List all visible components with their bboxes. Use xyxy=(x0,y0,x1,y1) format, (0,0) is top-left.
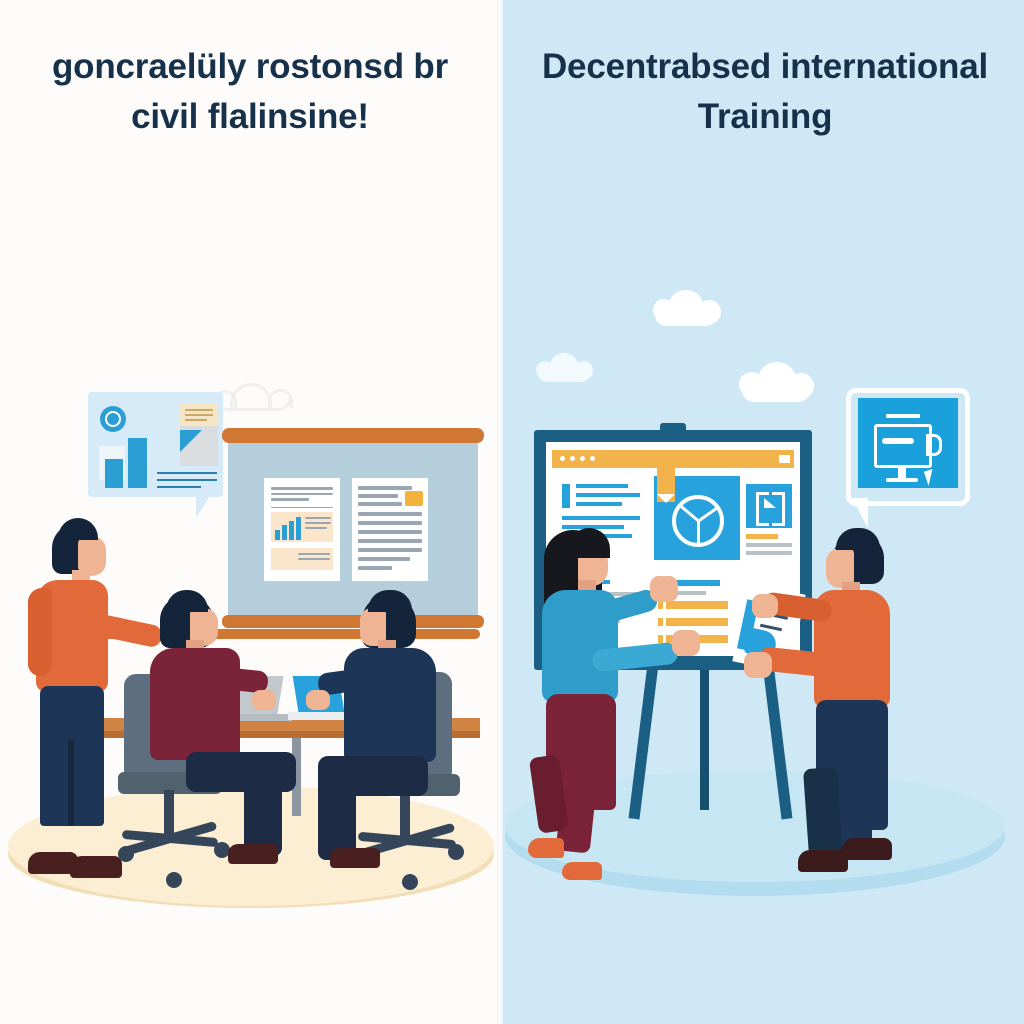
cloud-icon xyxy=(655,304,717,326)
bar-chart-bar xyxy=(128,438,147,488)
text-line xyxy=(358,521,422,525)
text-line xyxy=(576,484,628,488)
pie-spoke xyxy=(697,521,700,545)
right-panel-title: Decentrabsed international Training xyxy=(520,42,1010,142)
easel-leg-center xyxy=(700,660,709,810)
screen-rod-bottom xyxy=(222,615,484,628)
bar-chart-bar xyxy=(296,517,301,540)
torso-navy-suit xyxy=(344,648,436,762)
caster xyxy=(118,846,134,862)
text-line xyxy=(157,486,201,488)
hand-extended xyxy=(672,630,700,656)
accent-block xyxy=(562,484,570,508)
cloud-icon xyxy=(538,364,590,382)
shoe xyxy=(330,848,380,868)
lock-icon xyxy=(926,434,942,456)
screen-rod-top xyxy=(222,428,484,443)
text-line xyxy=(305,522,331,524)
chair-post xyxy=(400,792,410,840)
bookmark-notch xyxy=(657,494,675,503)
bar-chart-bar xyxy=(289,521,294,540)
bar-chart-bar xyxy=(105,459,123,488)
play-triangle-icon xyxy=(764,498,776,508)
text-line xyxy=(358,566,392,570)
text-line xyxy=(157,479,217,481)
shoe-right xyxy=(842,838,892,860)
monitor-icon xyxy=(874,424,932,468)
window-dot xyxy=(580,456,585,461)
text-line xyxy=(271,498,309,501)
checklist-marker xyxy=(658,618,663,626)
highlight-line xyxy=(746,534,778,539)
shoe-left xyxy=(798,850,848,872)
left-panel-title: goncraelüly rostonsd br civil flalinsine… xyxy=(22,42,478,142)
window-dot xyxy=(570,456,575,461)
hand xyxy=(306,690,330,710)
leg-back xyxy=(803,767,843,857)
cloud-icon xyxy=(742,378,810,402)
checklist-row xyxy=(666,601,728,609)
text-line xyxy=(305,517,331,519)
text-line xyxy=(358,502,402,506)
text-line xyxy=(358,512,422,516)
text-line xyxy=(358,548,422,552)
monitor-header-line xyxy=(886,414,920,418)
text-line xyxy=(298,558,330,560)
panel-divider xyxy=(497,0,503,1024)
hand-upper xyxy=(752,594,778,618)
hand-lower xyxy=(744,652,772,678)
text-line xyxy=(562,516,640,520)
illustration-canvas: goncraelüly rostonsd br civil flalinsine… xyxy=(0,0,1024,1024)
blue-laptop-base xyxy=(288,712,352,720)
cloud-badge-inner xyxy=(105,411,121,427)
hand xyxy=(252,690,276,710)
checklist-marker xyxy=(658,601,663,609)
document-accent-triangle xyxy=(180,430,202,452)
bar-chart-bar xyxy=(275,530,280,540)
monitor-content-line xyxy=(882,438,914,444)
hamburger-icon[interactable] xyxy=(779,455,790,463)
analytics-bubble-tail xyxy=(196,496,210,518)
chair-post xyxy=(164,790,174,838)
text-line xyxy=(358,539,422,543)
text-line xyxy=(157,472,217,474)
text-line xyxy=(305,527,327,529)
text-line xyxy=(271,493,333,495)
caster xyxy=(402,874,418,890)
elearning-bubble-tail xyxy=(852,498,868,528)
shoe-right xyxy=(562,862,602,880)
shoe-right xyxy=(70,856,122,878)
caster xyxy=(166,872,182,888)
text-line xyxy=(185,414,213,416)
window-dot xyxy=(590,456,595,461)
text-line xyxy=(746,551,792,555)
text-line xyxy=(271,487,333,490)
shoe xyxy=(228,844,278,864)
bar-chart-bar xyxy=(282,525,287,540)
arm-left xyxy=(28,588,52,676)
text-line xyxy=(185,409,213,411)
window-dot xyxy=(560,456,565,461)
leg-separator xyxy=(68,740,74,826)
text-line xyxy=(576,493,640,497)
cloud-badge-icon xyxy=(405,491,423,506)
monitor-base xyxy=(886,478,918,482)
text-line xyxy=(358,530,422,534)
cloud-outline-icon xyxy=(214,385,292,411)
torso-maroon-shirt xyxy=(150,648,240,760)
checklist-marker xyxy=(658,635,663,643)
text-line xyxy=(358,557,410,561)
text-line xyxy=(298,553,330,555)
text-line xyxy=(185,419,207,421)
caster xyxy=(448,844,464,860)
text-line xyxy=(576,502,622,506)
text-line xyxy=(746,543,792,547)
shoe-left xyxy=(528,838,564,858)
hand-raised xyxy=(650,576,678,602)
checklist-row xyxy=(666,618,728,626)
text-line xyxy=(358,494,398,498)
browser-chrome xyxy=(552,450,794,468)
monitor-stand xyxy=(898,468,906,478)
text-line xyxy=(358,486,412,490)
divider xyxy=(271,507,333,508)
